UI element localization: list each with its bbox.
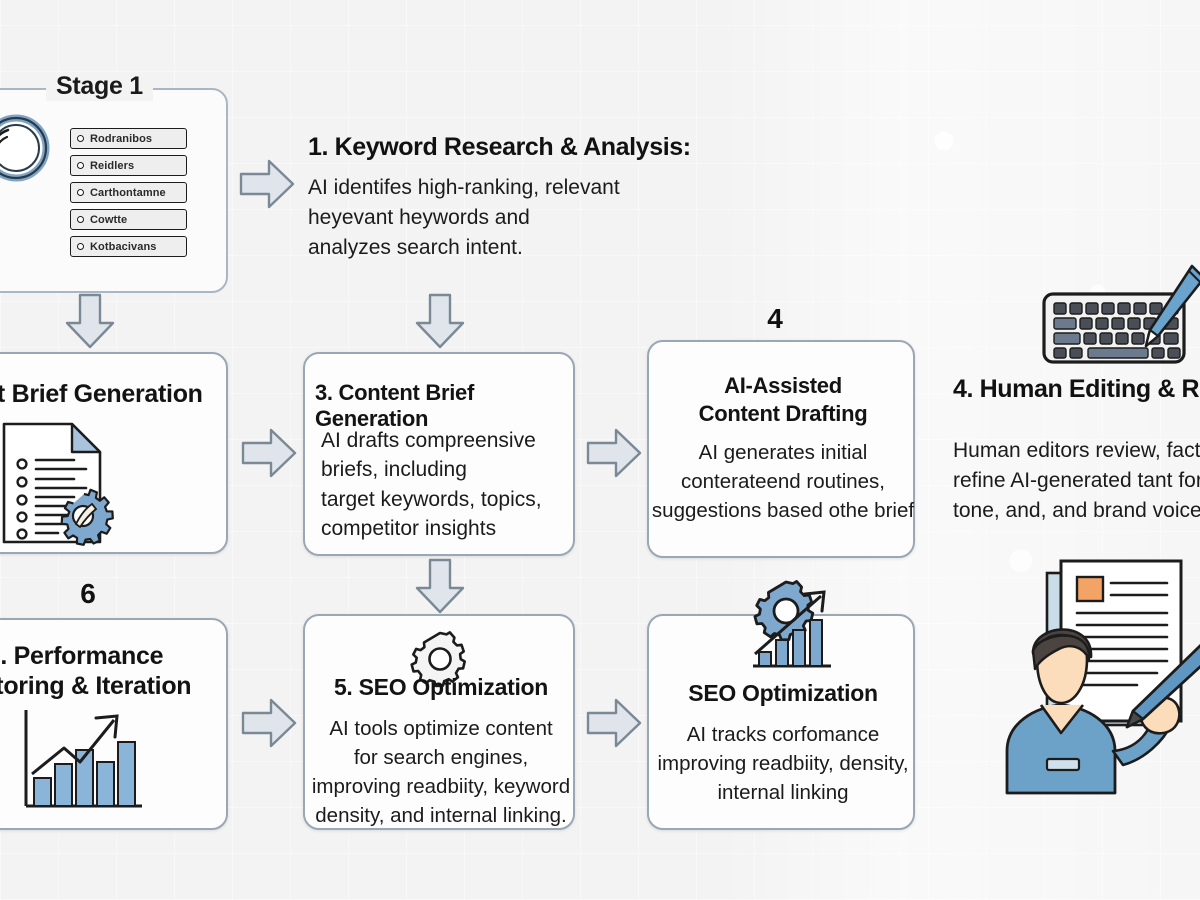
step-5-body-line: AI tools optimize content bbox=[305, 714, 577, 743]
step-4-body-line: suggestions based othe brief bbox=[647, 496, 919, 525]
stage-1-label: Stage 1 bbox=[46, 72, 153, 101]
keyword-list-item[interactable]: Kotbacivans bbox=[70, 236, 187, 257]
keyword-list-item[interactable]: Carthontamne bbox=[70, 182, 187, 203]
step-6-number: 6 bbox=[18, 578, 158, 610]
keyword-list: Rodranibos Reidlers Carthontamne Cowtte … bbox=[70, 128, 187, 257]
keyword-item-label: Reidlers bbox=[90, 160, 134, 172]
step-1-body-line: analyzes search intent. bbox=[308, 233, 691, 263]
arrow-right-step5-to-seo bbox=[585, 695, 643, 751]
step-3-title: 3. Content Brief Generation bbox=[315, 380, 567, 432]
step-6-title-line1: 6. Performance bbox=[0, 642, 232, 672]
step-3-body-line: AI drafts compreensive bbox=[321, 426, 542, 455]
step-1-body-line: AI identifes high-ranking, relevant bbox=[308, 173, 691, 203]
step-4-body: AI generates initial conterateend routin… bbox=[647, 438, 919, 525]
human-editing-body: Human editors review, fact- refine AI-ge… bbox=[953, 436, 1200, 525]
step-3-body: AI drafts compreensive briefs, including… bbox=[321, 426, 542, 544]
step-1-body-line: heyevant heywords and bbox=[308, 203, 691, 233]
step-6-right-body-line: improving readbiity, density, bbox=[647, 749, 919, 778]
step-1-body: AI identifes high-ranking, relevant heye… bbox=[308, 173, 691, 262]
bullet-icon bbox=[77, 243, 84, 250]
human-editing-body-line: Human editors review, fact- bbox=[953, 436, 1200, 466]
arrow-right-step6-to-step5 bbox=[240, 695, 298, 751]
gear-chart-growth-icon bbox=[745, 578, 837, 679]
step-6-title: 6. Performance onitoring & Iteration bbox=[0, 642, 232, 701]
arrow-right-step3-to-step4 bbox=[585, 425, 643, 481]
keyboard-with-pencil-icon bbox=[1040, 262, 1200, 377]
step-6-card[interactable]: 6. Performance onitoring & Iteration bbox=[0, 618, 228, 830]
step-4-body-line: AI generates initial bbox=[647, 438, 919, 467]
step-6-right-title: SEO Optimization bbox=[649, 680, 917, 707]
step-3-body-line: target keywords, topics, bbox=[321, 485, 542, 514]
step-6-right-body: AI tracks corfomance improving readbiity… bbox=[647, 720, 919, 807]
step-5-body-line: for search engines, bbox=[305, 743, 577, 772]
content-brief-card-title: ntent Brief Generation bbox=[0, 380, 234, 409]
arrow-right-brief-to-step3 bbox=[240, 425, 298, 481]
step-6-right-body-line: AI tracks corfomance bbox=[647, 720, 919, 749]
step-3-card[interactable]: 3. Content Brief Generation AI drafts co… bbox=[303, 352, 575, 556]
step-5-body-line: improving readbiity, keyword bbox=[305, 772, 577, 801]
keyword-list-item[interactable]: Cowtte bbox=[70, 209, 187, 230]
keyword-item-label: Carthontamne bbox=[90, 187, 166, 199]
step-4-title: AI-Assisted Content Drafting bbox=[649, 372, 917, 427]
arrow-down-step1-to-step3 bbox=[412, 292, 468, 350]
keyword-item-label: Kotbacivans bbox=[90, 241, 157, 253]
bullet-icon bbox=[77, 135, 84, 142]
keyword-list-item[interactable]: Reidlers bbox=[70, 155, 187, 176]
bullet-icon bbox=[77, 189, 84, 196]
keyword-list-item[interactable]: Rodranibos bbox=[70, 128, 187, 149]
bar-chart-growth-icon bbox=[18, 706, 148, 823]
step-6-title-line2: onitoring & Iteration bbox=[0, 672, 232, 702]
human-editing-body-line: tone, and, and brand voice. bbox=[953, 496, 1200, 526]
arrow-down-step3-to-step5 bbox=[412, 557, 468, 615]
magnifying-glass-icon bbox=[0, 108, 68, 205]
bullet-icon bbox=[77, 162, 84, 169]
bullet-icon bbox=[77, 216, 84, 223]
keyword-item-label: Rodranibos bbox=[90, 133, 152, 145]
step-5-body-line: density, and internal linking. bbox=[305, 801, 577, 830]
step-4-card[interactable]: AI-Assisted Content Drafting AI generate… bbox=[647, 340, 915, 558]
step-4-title-line2: Content Drafting bbox=[649, 400, 917, 428]
person-editing-document-icon bbox=[995, 555, 1200, 810]
step-4-body-line: conterateend routines, bbox=[647, 467, 919, 496]
step-4-title-line1: AI-Assisted bbox=[649, 372, 917, 400]
step-3-body-line: competitor insights bbox=[321, 514, 542, 543]
diagram-canvas: Stage 1 Rodranibos Reidlers Carthontamne bbox=[0, 0, 1200, 900]
step-6-right-body-line: internal linking bbox=[647, 778, 919, 807]
step-1-title: 1. Keyword Research & Analysis: bbox=[308, 133, 691, 162]
step-3-body-line: briefs, including bbox=[321, 455, 542, 484]
step-5-body: AI tools optimize content for search eng… bbox=[305, 714, 577, 830]
arrow-down-stage1-to-brief bbox=[62, 292, 118, 350]
human-editing-body-line: refine AI-generated tant for bbox=[953, 466, 1200, 496]
step-5-card[interactable]: 5. SEO Optimization AI tools optimize co… bbox=[303, 614, 575, 830]
step-4-right-text-block: 4. Human Editing & Refin Human editors r… bbox=[953, 375, 1200, 525]
keyword-item-label: Cowtte bbox=[90, 214, 127, 226]
content-brief-generation-card[interactable]: ntent Brief Generation bbox=[0, 352, 228, 554]
step-4-number: 4 bbox=[705, 303, 845, 335]
step-1-text-block: 1. Keyword Research & Analysis: AI ident… bbox=[308, 133, 691, 262]
step-5-title: 5. SEO Optimization bbox=[305, 674, 577, 701]
arrow-right-stage1-to-step1 bbox=[238, 156, 296, 212]
document-with-gear-icon bbox=[0, 420, 130, 553]
human-editing-title: 4. Human Editing & Refin bbox=[953, 375, 1200, 404]
